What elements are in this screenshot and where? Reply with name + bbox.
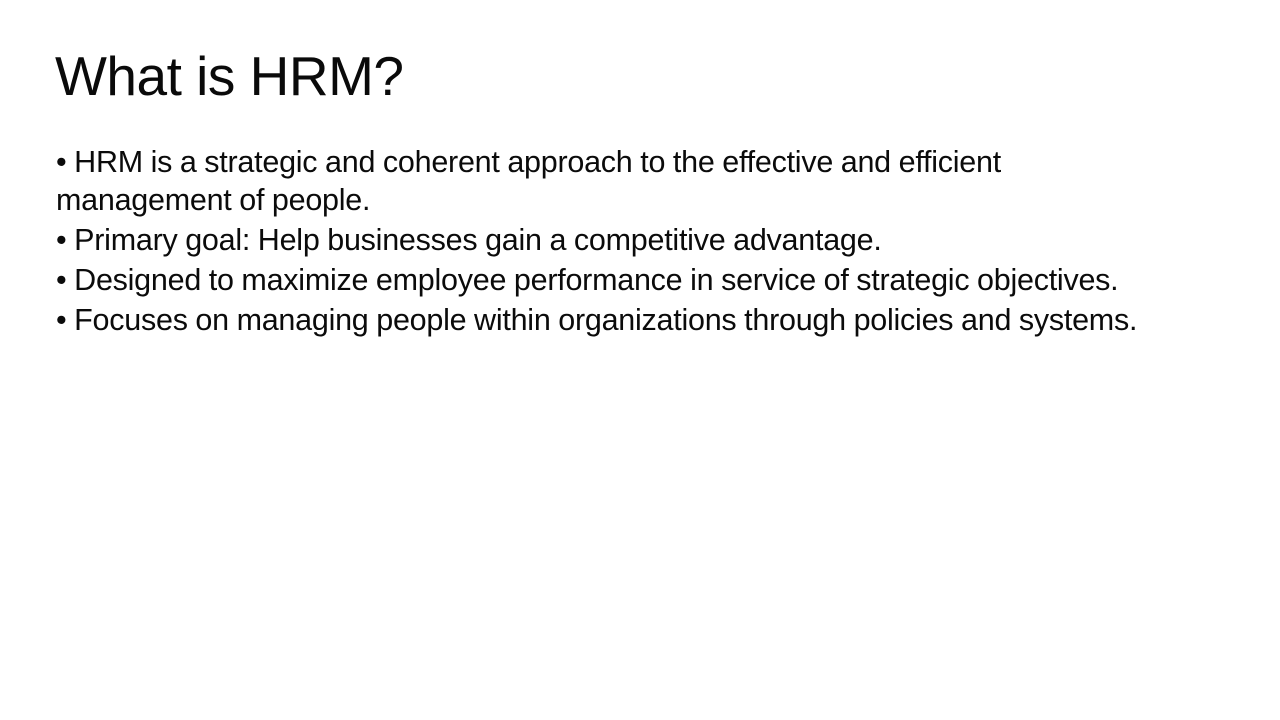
bullet-point-icon: • <box>56 263 66 297</box>
bullet-point-icon: • <box>56 303 66 337</box>
list-item-label: Designed to maximize employee performanc… <box>74 263 1118 297</box>
list-item-label: Focuses on managing people within organi… <box>74 303 1137 337</box>
list-item: • HRM is a strategic and coherent approa… <box>56 143 1154 219</box>
list-item-label: Primary goal: Help businesses gain a com… <box>74 223 881 257</box>
list-item: • Focuses on managing people within orga… <box>56 301 1154 339</box>
slide-body-content: • HRM is a strategic and coherent approa… <box>56 143 1154 341</box>
slide-canvas: What is HRM? • HRM is a strategic and co… <box>0 0 1280 720</box>
list-item: • Primary goal: Help businesses gain a c… <box>56 221 1154 259</box>
list-item: • Designed to maximize employee performa… <box>56 261 1154 299</box>
bullet-point-icon: • <box>56 223 66 257</box>
page-title: What is HRM? <box>55 46 1155 108</box>
list-item-label: HRM is a strategic and coherent approach… <box>56 145 1001 217</box>
bullet-point-icon: • <box>56 145 66 179</box>
